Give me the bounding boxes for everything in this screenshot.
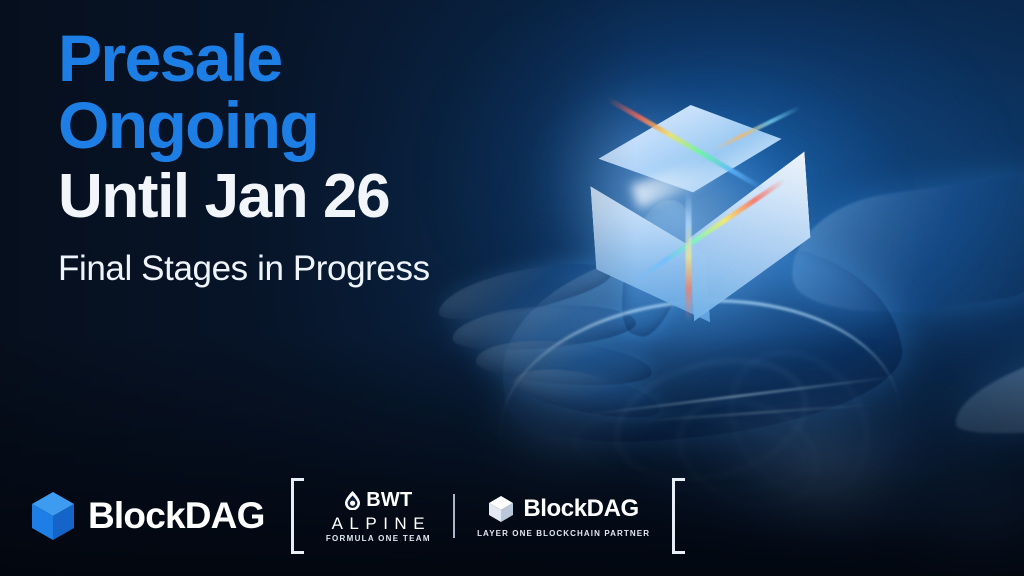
partner-lockup: BWT ALPINE FORMULA ONE TEAM BlockDAG <box>291 478 686 554</box>
footer-lockup: BlockDAG BWT ALPINE FORMULA ONE TEAM <box>30 478 685 554</box>
headline-block: Presale Ongoing Until Jan 26 Final Stage… <box>58 20 518 289</box>
headline-line-2: Ongoing <box>58 93 518 158</box>
headline-line-1: Presale <box>58 26 518 91</box>
bracket-left <box>291 478 304 554</box>
blockdag-partner-logo: BlockDAG LAYER ONE BLOCKCHAIN PARTNER <box>477 495 650 538</box>
blockdag-brand-lockup: BlockDAG <box>30 491 265 541</box>
blockdag-cube-outline-icon <box>488 495 514 523</box>
blockdag-cube-icon <box>30 491 76 541</box>
bwt-alpine-wordmark: ALPINE <box>326 515 431 532</box>
bwt-wordmark: BWT <box>366 489 412 512</box>
bracket-right <box>672 478 685 554</box>
partner-divider <box>453 494 455 538</box>
bwt-alpine-logo: BWT ALPINE FORMULA ONE TEAM <box>326 489 431 543</box>
headline-line-3: Until Jan 26 <box>58 167 518 228</box>
promotional-banner: Presale Ongoing Until Jan 26 Final Stage… <box>0 0 1024 576</box>
blockdag-partner-wordmark: BlockDAG <box>523 495 639 523</box>
bwt-top-row: BWT <box>344 489 412 512</box>
bwt-droplet-icon <box>344 491 361 510</box>
blockdag-wordmark: BlockDAG <box>88 495 265 537</box>
subheadline: Final Stages in Progress <box>58 250 518 289</box>
blockdag-partner-tagline: LAYER ONE BLOCKCHAIN PARTNER <box>477 530 650 538</box>
bwt-formula-one-tagline: FORMULA ONE TEAM <box>326 535 431 543</box>
partner-inner: BWT ALPINE FORMULA ONE TEAM BlockDAG <box>304 478 673 554</box>
blockdag-partner-row: BlockDAG <box>488 495 639 523</box>
